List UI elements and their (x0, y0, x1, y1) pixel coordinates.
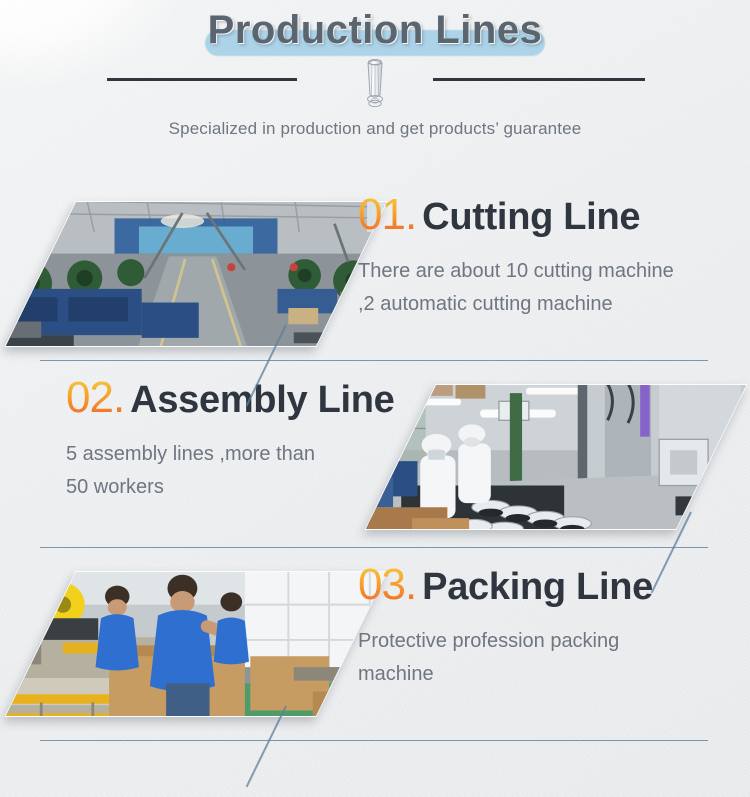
production-lines-page: Production Lines (0, 0, 750, 797)
page-header: Production Lines (0, 0, 750, 64)
section-separator-3 (40, 740, 708, 741)
description-line-1: There are about 10 cutting machine (358, 255, 750, 288)
section-assembly-line: 02. Assembly Line 5 assembly lines ,more… (0, 368, 750, 548)
cutting-line-description: There are about 10 cutting machine ,2 au… (358, 255, 750, 321)
page-title: Production Lines (0, 8, 750, 53)
cutting-line-headline: 01. Cutting Line (358, 193, 750, 237)
cutting-line-photo (4, 201, 387, 347)
assembly-line-headline: 02. Assembly Line (66, 376, 458, 420)
section-heading: Packing Line (422, 568, 653, 606)
divider-right (433, 78, 645, 81)
page-subtitle: Specialized in production and get produc… (0, 119, 750, 139)
section-cutting-line: 01. Cutting Line There are about 10 cutt… (0, 185, 750, 365)
section-number: 03. (358, 563, 416, 607)
section-packing-line: 03. Packing Line Protective profession p… (0, 555, 750, 750)
packing-line-text: 03. Packing Line Protective profession p… (358, 563, 750, 691)
packing-line-headline: 03. Packing Line (358, 563, 750, 607)
section-heading: Assembly Line (130, 381, 394, 419)
description-line-2: ,2 automatic cutting machine (358, 288, 750, 321)
tassel-ornament-icon (355, 55, 395, 113)
section-number: 01. (358, 193, 416, 237)
section-separator-1 (40, 360, 708, 361)
description-line-2: machine (358, 658, 750, 691)
section-number: 02. (66, 376, 124, 420)
packing-line-photo (4, 571, 387, 717)
divider-left (107, 78, 297, 81)
cutting-line-text: 01. Cutting Line There are about 10 cutt… (358, 193, 750, 321)
section-heading: Cutting Line (422, 198, 640, 236)
packing-line-description: Protective profession packing machine (358, 625, 750, 691)
description-line-1: Protective profession packing (358, 625, 750, 658)
section-separator-2 (40, 547, 708, 548)
